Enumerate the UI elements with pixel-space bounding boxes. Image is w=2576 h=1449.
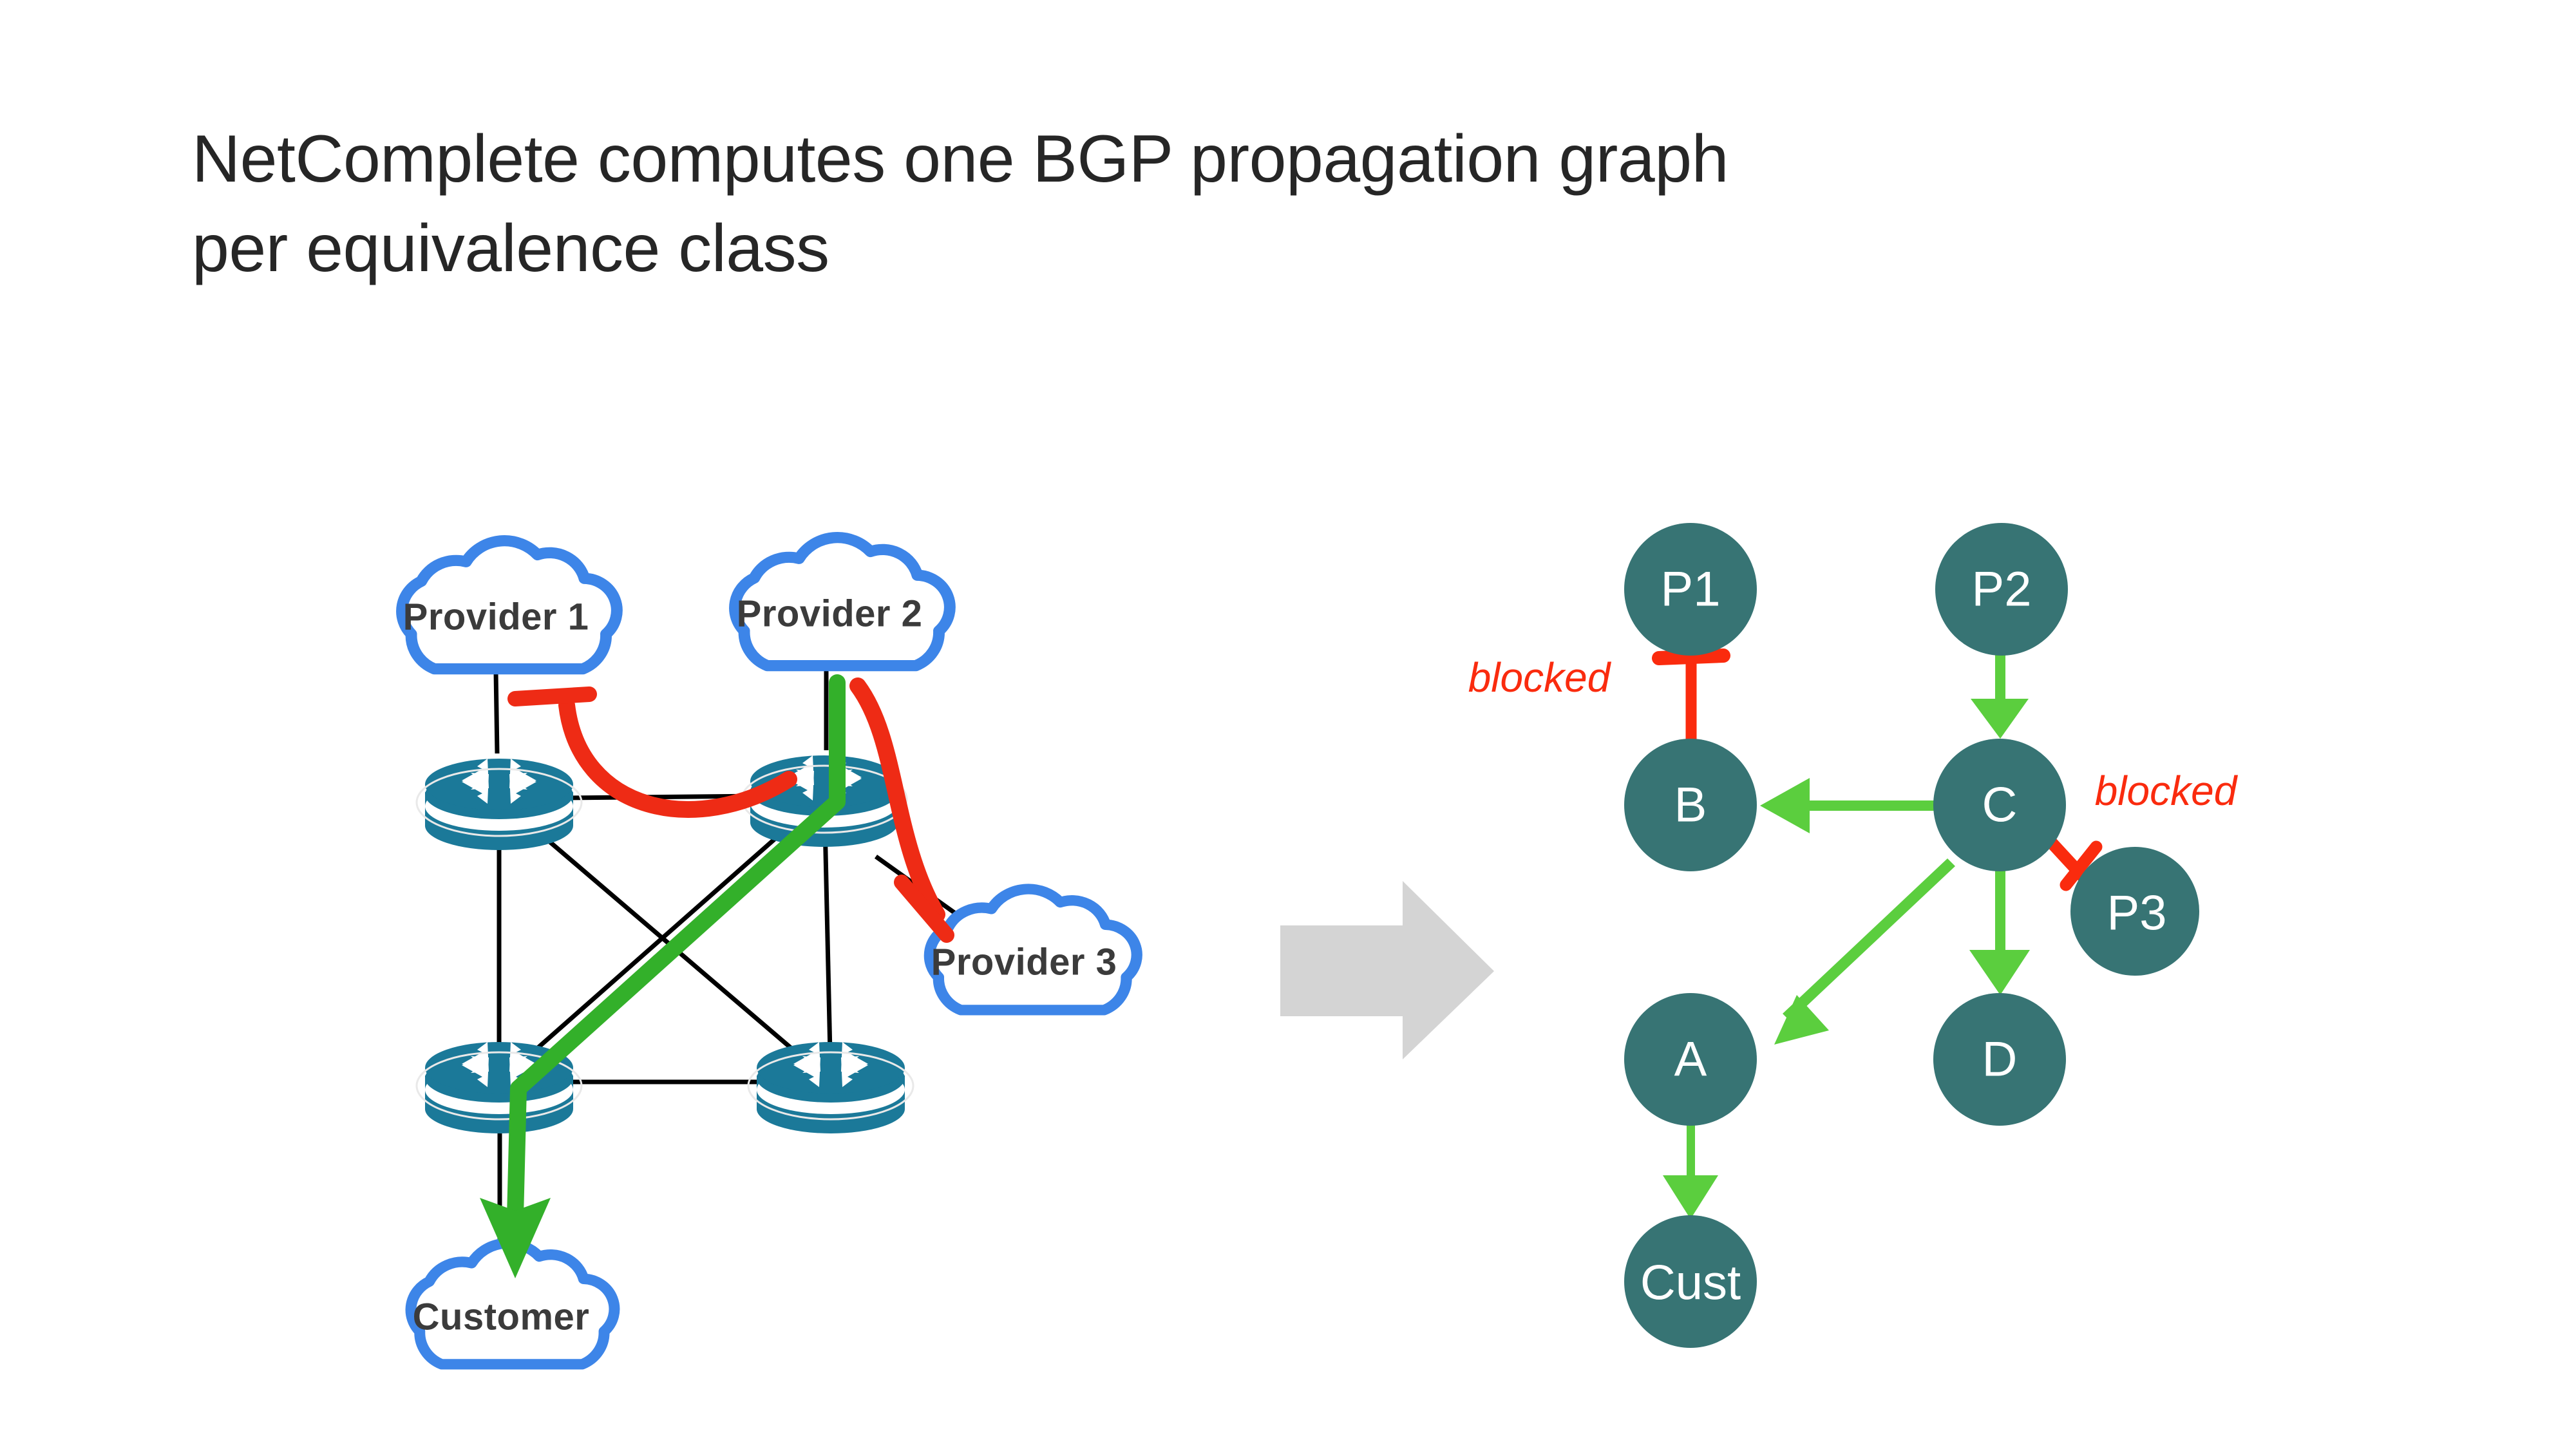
graph-edges-propagated	[1663, 654, 2030, 1219]
graph-node-label-p1: P1	[1661, 562, 1721, 618]
edge-c-b	[1760, 778, 1934, 833]
graph-node-label-p2: P2	[1972, 562, 2032, 618]
link-a-d	[499, 799, 831, 1082]
graph-node-label-b: B	[1674, 777, 1707, 833]
router-c[interactable]	[417, 1042, 582, 1133]
router-d[interactable]	[748, 1042, 913, 1133]
edge-c-d	[1969, 869, 2030, 995]
blocked-curve-provider1	[515, 694, 789, 810]
edge-p2-c	[1971, 654, 2029, 739]
edge-c-p3	[2045, 836, 2096, 885]
graph-node-label-d: D	[1982, 1032, 2018, 1088]
cloud-label-customer: Customer	[413, 1296, 590, 1339]
edge-p1-b	[1659, 656, 1723, 739]
cloud-links	[496, 668, 966, 1243]
cloud-label-provider1: Provider 1	[403, 596, 589, 639]
edge-c-a	[1774, 858, 1955, 1045]
graph-node-label-c: C	[1982, 777, 2018, 833]
page-title: NetComplete computes one BGP propagation…	[192, 115, 2060, 294]
link-a-b	[499, 795, 824, 799]
slide-canvas: NetComplete computes one BGP propagation…	[0, 0, 2576, 1449]
blocked-label-left: blocked	[1468, 654, 1611, 701]
cloud-label-provider3: Provider 3	[931, 941, 1117, 984]
graph-node-label-p3: P3	[2107, 885, 2167, 942]
link-provider1-router	[496, 672, 497, 753]
graph-node-label-cust: Cust	[1640, 1255, 1741, 1311]
graph-edges-blocked	[1659, 656, 2096, 885]
graph-node-label-a: A	[1674, 1032, 1707, 1088]
blocked-label-right: blocked	[2095, 767, 2237, 815]
router-b[interactable]	[742, 755, 907, 847]
router-links	[499, 795, 831, 1082]
edge-a-cust	[1663, 1125, 1718, 1219]
link-b-d	[824, 795, 831, 1082]
link-b-c	[499, 795, 824, 1082]
advertisement-path	[480, 683, 837, 1278]
cloud-label-provider2: Provider 2	[737, 592, 923, 636]
router-a[interactable]	[417, 759, 582, 850]
blocked-curve-provider3	[858, 686, 947, 935]
link-router-provider3	[876, 857, 966, 921]
transition-arrow	[1280, 881, 1494, 1059]
